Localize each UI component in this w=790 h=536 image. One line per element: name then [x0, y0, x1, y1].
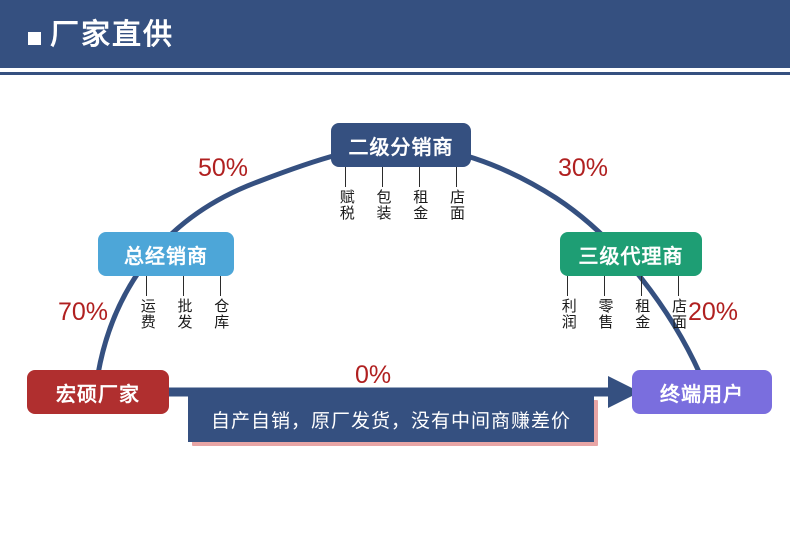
node-distributor2-label: 二级分销商 [349, 131, 454, 160]
node-agent3-label: 三级代理商 [579, 240, 684, 269]
cost-item: 批发 [176, 276, 192, 330]
costs-agent3: 利润 零售 租金 店面 [560, 276, 686, 330]
tick-line-icon [220, 276, 221, 296]
costs-general-distributor: 运费 批发 仓库 [139, 276, 228, 330]
tick-line-icon [678, 276, 679, 296]
tagline-banner: 自产自销，原厂发货，没有中间商赚差价 [188, 396, 594, 442]
tick-line-icon [419, 167, 420, 187]
node-general-distributor[interactable]: 总经销商 [98, 232, 234, 276]
cost-item: 租金 [412, 167, 428, 221]
percent-label-distributor2-to-agent3: 30% [558, 154, 608, 183]
tick-line-icon [641, 276, 642, 296]
cost-label: 批发 [176, 298, 192, 330]
cost-item: 店面 [448, 167, 464, 221]
header-inner: 厂家直供 [28, 18, 174, 52]
tick-line-icon [604, 276, 605, 296]
node-enduser-label: 终端用户 [660, 378, 744, 407]
header-bar: 厂家直供 [0, 0, 790, 68]
cost-item: 包装 [375, 167, 391, 221]
percent-label-general-to-distributor2: 50% [198, 154, 248, 183]
node-factory-label: 宏硕厂家 [56, 378, 140, 407]
node-enduser[interactable]: 终端用户 [632, 370, 772, 414]
node-factory[interactable]: 宏硕厂家 [27, 370, 169, 414]
cost-label: 利润 [560, 298, 576, 330]
percent-label-factory-to-enduser: 0% [355, 361, 391, 390]
tick-line-icon [382, 167, 383, 187]
node-agent3[interactable]: 三级代理商 [560, 232, 702, 276]
cost-item: 赋税 [338, 167, 354, 221]
supply-chain-diagram: 二级分销商 总经销商 三级代理商 宏硕厂家 终端用户 赋税 包装 租 [0, 76, 790, 536]
cost-label: 运费 [139, 298, 155, 330]
square-bullet-icon [28, 32, 41, 45]
node-distributor2[interactable]: 二级分销商 [331, 123, 471, 167]
page-title: 厂家直供 [50, 18, 174, 52]
tick-line-icon [456, 167, 457, 187]
tick-line-icon [146, 276, 147, 296]
cost-item: 店面 [670, 276, 686, 330]
slide-canvas: 厂家直供 二级分销商 总经销商 三级代理商 宏硕厂家 终端用户 [0, 0, 790, 536]
cost-label: 赋税 [338, 189, 354, 221]
cost-item: 租金 [634, 276, 650, 330]
cost-item: 利润 [560, 276, 576, 330]
cost-item: 仓库 [213, 276, 229, 330]
cost-item: 运费 [139, 276, 155, 330]
tagline-text: 自产自销，原厂发货，没有中间商赚差价 [211, 406, 571, 433]
percent-label-factory-to-general: 70% [58, 298, 108, 327]
cost-label: 租金 [412, 189, 428, 221]
costs-distributor2: 赋税 包装 租金 店面 [338, 167, 464, 221]
tick-line-icon [183, 276, 184, 296]
cost-item: 零售 [597, 276, 613, 330]
cost-label: 店面 [448, 189, 464, 221]
tick-line-icon [345, 167, 346, 187]
cost-label: 零售 [597, 298, 613, 330]
cost-label: 店面 [670, 298, 686, 330]
cost-label: 仓库 [213, 298, 229, 330]
header-divider [0, 72, 790, 75]
node-general-label: 总经销商 [124, 240, 208, 269]
tick-line-icon [567, 276, 568, 296]
cost-label: 包装 [375, 189, 391, 221]
cost-label: 租金 [634, 298, 650, 330]
percent-label-agent3-to-enduser: 20% [688, 298, 738, 327]
